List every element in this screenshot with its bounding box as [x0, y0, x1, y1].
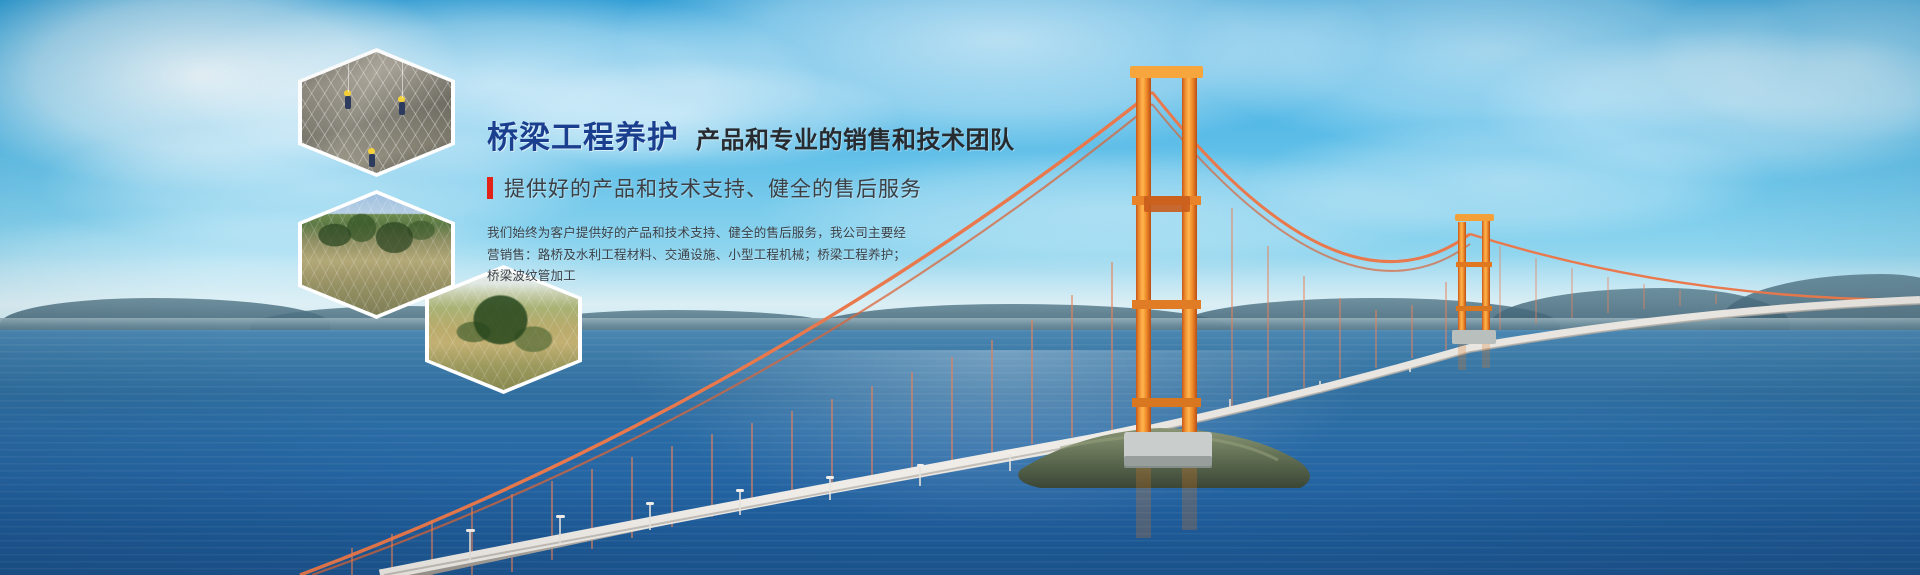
tower-top-beam	[1130, 66, 1203, 78]
main-cable-mid	[1152, 92, 1470, 262]
bridge-tower-secondary	[1455, 214, 1494, 334]
bridge-deck-left	[300, 424, 1140, 575]
tower-sign-plate	[1144, 196, 1190, 212]
headline-secondary: 产品和专业的销售和技术团队	[696, 129, 1015, 153]
banner-body-text: 我们始终为客户提供好的产品和技术支持、健全的售后服务，我公司主要经营销售：路桥及…	[487, 223, 917, 288]
subheadline-text: 提供好的产品和技术支持、健全的售后服务	[504, 173, 922, 203]
hero-banner: 桥梁工程养护 产品和专业的销售和技术团队 提供好的产品和技术支持、健全的售后服务…	[0, 0, 1920, 575]
main-cable-right	[1470, 234, 1920, 300]
banner-copy: 桥梁工程养护 产品和专业的销售和技术团队 提供好的产品和技术支持、健全的售后服务…	[487, 122, 1027, 288]
hanger-cables-mid	[1196, 160, 1446, 418]
headline-primary: 桥梁工程养护	[487, 122, 679, 153]
banner-subheadline: 提供好的产品和技术支持、健全的售后服务	[487, 173, 1027, 203]
tower-crossbeam	[1132, 300, 1201, 309]
secondary-pier	[1452, 330, 1496, 344]
thumbnail-hexagon-1[interactable]	[298, 48, 455, 177]
suspension-bridge	[0, 0, 1920, 575]
tower-crossbeam	[1132, 398, 1201, 407]
bridge-deck-right	[1140, 300, 1920, 431]
deck-lamp-heads	[466, 437, 1104, 532]
banner-headline: 桥梁工程养护 产品和专业的销售和技术团队	[487, 122, 1027, 153]
red-accent-bar	[487, 177, 493, 199]
